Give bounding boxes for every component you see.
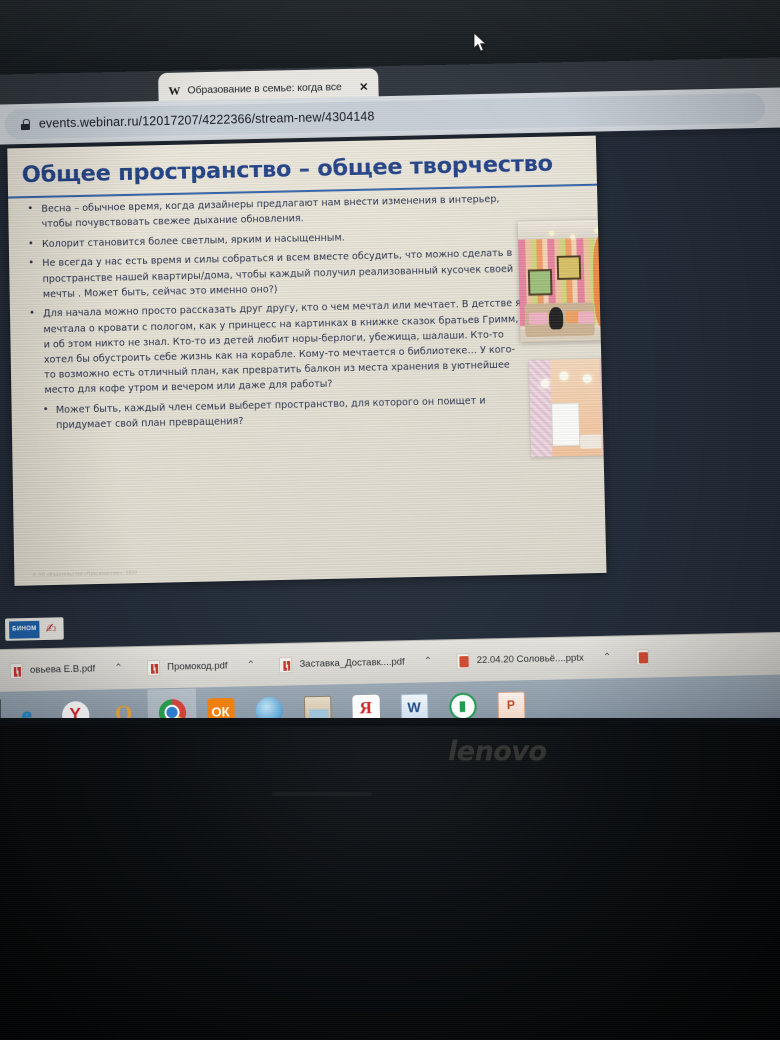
powerpoint-file-icon: [635, 649, 649, 666]
address-bar-url: events.webinar.ru/12017207/4222366/strea…: [39, 109, 375, 130]
bookmark-binom[interactable]: БИНОМ: [9, 620, 40, 638]
lenovo-logo: lenovo: [448, 736, 547, 767]
bookmarks-chip-row: БИНОМ ✍: [5, 617, 64, 641]
laptop-screen-photo: W Образование в семье: когда все ✕ e eve…: [0, 0, 780, 1040]
chevron-up-icon[interactable]: ⌃: [599, 652, 616, 664]
close-icon[interactable]: ✕: [357, 80, 370, 93]
powerpoint-icon: P: [497, 691, 525, 719]
chevron-up-icon[interactable]: ⌃: [110, 663, 127, 675]
slide-bullet-list: Весна – обычное время, когда дизайнеры п…: [24, 191, 526, 438]
download-item-name: овьева Е.В.pdf: [30, 663, 95, 676]
slide-bullet: Для начала можно просто рассказать друг …: [26, 296, 524, 398]
download-item[interactable]: Заставка_Доставк....pdf ⌃: [269, 640, 447, 687]
slide-bullet: Весна – обычное время, когда дизайнеры п…: [24, 191, 520, 232]
powerpoint-file-icon: [456, 652, 469, 669]
word-icon: W: [400, 693, 428, 721]
presentation-slide[interactable]: Общее пространство – общее творчество Ве…: [7, 136, 606, 586]
pdf-file-icon: [10, 662, 23, 679]
laptop-body-highlight: [272, 792, 372, 796]
bookmark-red-hand-icon[interactable]: ✍: [42, 620, 59, 638]
download-item[interactable]: овьева Е.В.pdf ⌃: [0, 647, 137, 693]
slide-bullet: Не всегда у нас есть время и силы собрат…: [25, 246, 521, 303]
download-item-overflow[interactable]: [625, 635, 659, 678]
download-item-name: 22.04.20 Соловьё....pptx: [477, 653, 584, 667]
browser-tab-title: Образование в семье: когда все: [187, 81, 350, 97]
lock-icon: [21, 118, 30, 129]
pdf-file-icon: [147, 659, 160, 676]
download-item-name: Промокод.pdf: [167, 660, 228, 673]
laptop-display: W Образование в семье: когда все ✕ e eve…: [0, 57, 780, 740]
slide-copyright: © АО «Издательство «Просвещение», 2020: [32, 570, 137, 577]
excel-icon: ▮: [449, 692, 477, 720]
slide-bullet: Может быть, каждый член семьи выберет пр…: [28, 393, 499, 434]
two-rooms-comparison-photo: [529, 356, 607, 457]
download-item[interactable]: 22.04.20 Соловьё....pptx ⌃: [446, 636, 626, 683]
childrens-room-photo: [518, 218, 607, 342]
download-item[interactable]: Промокод.pdf ⌃: [136, 644, 269, 690]
pdf-file-icon: [279, 656, 292, 673]
webinar-favicon: W: [168, 85, 180, 97]
download-item-name: Заставка_Доставк....pdf: [299, 656, 404, 669]
chevron-up-icon[interactable]: ⌃: [420, 656, 437, 668]
laptop-body: [0, 726, 780, 1040]
chevron-up-icon[interactable]: ⌃: [243, 660, 260, 672]
slide-title: Общее пространство – общее творчество: [22, 150, 583, 188]
